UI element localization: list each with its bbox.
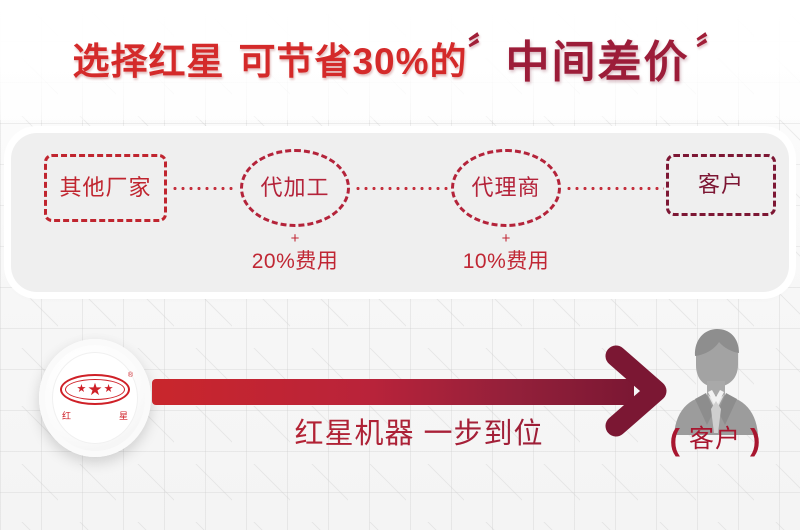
headline-accent: 中间差价 bbox=[506, 26, 690, 90]
flow-node-customer: 客户 bbox=[666, 154, 776, 216]
customer-tag-label: 客户 bbox=[689, 427, 741, 452]
flow-node-other-factory-label: 其他厂家 bbox=[59, 177, 151, 199]
quote-close-mark: 〞 bbox=[696, 23, 728, 72]
flow-node-customer-label: 客户 bbox=[698, 174, 744, 196]
logo-oval-emblem: ★ ★ ★ ® bbox=[60, 374, 130, 405]
promo-graphic: 选择红星 可节省30%的 〞 中间差价 〞 其他厂家 代加工 代理商 客户 + … bbox=[0, 0, 800, 530]
logo-star-center-icon: ★ bbox=[87, 381, 102, 398]
flow-node-oem-label: 代加工 bbox=[260, 177, 329, 199]
flow-node-oem: 代加工 bbox=[240, 149, 350, 227]
registered-trademark-icon: ® bbox=[128, 372, 133, 379]
logo-star-left-icon: ★ bbox=[77, 384, 87, 395]
fee-plus-sign-agent: + bbox=[431, 230, 581, 247]
middleman-flow-panel: 其他厂家 代加工 代理商 客户 + 20%费用 + 10%费用 bbox=[11, 133, 789, 292]
connector-dotted-1 bbox=[171, 187, 237, 190]
fee-markup-oem: + 20%费用 bbox=[220, 230, 370, 274]
quote-open-mark: 〞 bbox=[468, 23, 500, 72]
logo-star-right-icon: ★ bbox=[104, 384, 114, 395]
flow-node-agent: 代理商 bbox=[451, 149, 561, 227]
fee-plus-sign-oem: + bbox=[220, 230, 370, 247]
flow-node-other-factory: 其他厂家 bbox=[44, 154, 167, 222]
direct-arrow-shaft bbox=[152, 379, 634, 405]
headline-savings: 可节省30%的 bbox=[238, 31, 467, 85]
headline-lead: 选择红星 bbox=[72, 31, 224, 85]
customer-person-icon bbox=[662, 325, 770, 435]
headline: 选择红星 可节省30%的 〞 中间差价 〞 bbox=[0, 26, 800, 90]
flow-node-agent-label: 代理商 bbox=[471, 177, 540, 199]
connector-dotted-3 bbox=[565, 187, 664, 190]
fee-markup-agent: + 10%费用 bbox=[431, 230, 581, 274]
connector-dotted-2 bbox=[354, 187, 448, 190]
customer-tag: ( 客户 ) bbox=[640, 424, 790, 455]
tag-bracket-right-icon: ) bbox=[750, 424, 760, 455]
tag-bracket-left-icon: ( bbox=[670, 424, 680, 455]
fee-amount-oem: 20%费用 bbox=[220, 250, 370, 274]
fee-amount-agent: 10%费用 bbox=[431, 250, 581, 274]
